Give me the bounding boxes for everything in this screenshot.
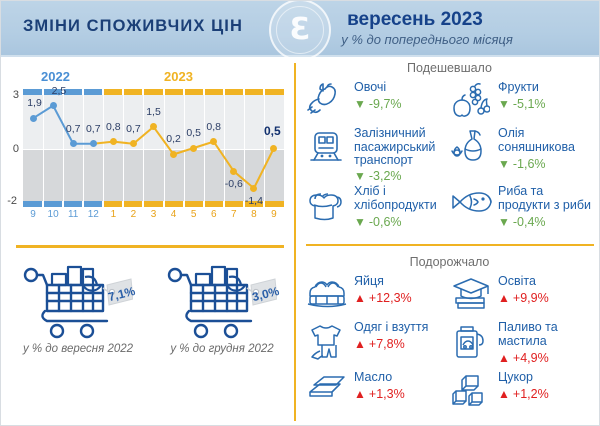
y-tick-3: 3 (1, 89, 19, 101)
price-item-name: Масло (354, 371, 454, 385)
x-axis-label: 5 (185, 209, 203, 220)
chart-data-label: 0,7 (86, 123, 101, 135)
year-bar-notch (142, 89, 144, 95)
left-horizontal-divider (16, 245, 284, 248)
chart-point (30, 115, 37, 122)
year-bar-notch (163, 89, 165, 95)
chart-point (190, 145, 197, 152)
y-tick-neg2: -2 (0, 195, 17, 207)
year-bar-notch (263, 201, 265, 207)
chart-point (90, 140, 97, 147)
year-bar-notch (183, 89, 185, 95)
price-item-name: Овочі (354, 81, 454, 95)
price-item-name: Одяг і взуття (354, 321, 454, 335)
year-bar-notch (42, 201, 44, 207)
arrow-up-icon: ▲ (354, 291, 366, 305)
arrow-down-icon: ▼ (354, 97, 366, 111)
price-change-percent: -5,1% (513, 97, 546, 111)
page-header: ЗМІНИ СПОЖИВЧИХ ЦІН Ԑ вересень 2023 у % … (1, 1, 600, 57)
bread-icon (306, 187, 350, 227)
price-change-percent: -9,7% (369, 97, 402, 111)
clothing-icon (306, 323, 350, 363)
cart-block-vs-december: 3,0% у % до грудня 2022 (149, 251, 295, 371)
arrow-down-icon: ▼ (498, 157, 510, 171)
price-item-name: Цукор (498, 371, 598, 385)
price-change-line-chart: 2022 2023 3 0 -2 9101112123456789 1,92,5… (1, 59, 293, 231)
year-bar-2023 (103, 89, 284, 95)
price-item-value: ▲+4,9% (498, 351, 549, 365)
x-axis-label: 7 (225, 209, 243, 220)
chart-data-label: 0,8 (106, 121, 121, 133)
year-bar-notch (42, 89, 44, 95)
chart-data-label: 0,2 (166, 133, 181, 145)
price-item-value: ▲+7,8% (354, 337, 405, 351)
price-item-name: Освіта (498, 275, 598, 289)
price-item-value: ▲+12,3% (354, 291, 412, 305)
year-bar-notch (122, 201, 124, 207)
chart-point (50, 102, 57, 109)
x-axis-label: 9 (24, 209, 42, 220)
chart-data-label: 1,5 (146, 106, 161, 118)
chart-point (110, 138, 117, 145)
sugar-cubes-icon (450, 373, 494, 413)
x-axis-label: 11 (64, 209, 82, 220)
arrow-up-icon: ▲ (498, 291, 510, 305)
price-item-value: ▲+1,3% (354, 387, 405, 401)
chart-data-label: 2,5 (52, 85, 67, 97)
vegetables-icon (306, 83, 350, 123)
price-item-name: Фрукти (498, 81, 598, 95)
cart-block-vs-september: 7,1% у % до вересня 2022 (5, 251, 151, 371)
price-item-value: ▼-1,6% (498, 157, 546, 171)
year-bar-notch (82, 89, 84, 95)
chart-data-label: 0,5 (264, 124, 281, 138)
chart-data-label: 0,5 (186, 127, 201, 139)
chart-point (70, 140, 77, 147)
x-axis-label: 1 (104, 209, 122, 220)
butter-icon (306, 373, 350, 413)
chart-data-label: 0,7 (66, 123, 81, 135)
arrow-down-icon: ▼ (354, 215, 366, 229)
arrow-down-icon: ▼ (354, 169, 366, 183)
price-item-value: ▲+1,2% (498, 387, 549, 401)
arrow-up-icon: ▲ (354, 387, 366, 401)
report-month: вересень 2023 (265, 9, 565, 31)
chart-data-label: 0,8 (206, 121, 221, 133)
price-item-value: ▼-9,7% (354, 97, 402, 111)
arrow-down-icon: ▼ (498, 97, 510, 111)
x-axis-label: 8 (245, 209, 263, 220)
x-axis-label: 12 (84, 209, 102, 220)
year-bar-notch (223, 89, 225, 95)
price-change-percent: +1,2% (513, 387, 549, 401)
oil-bottle-icon (450, 129, 494, 169)
year-bar-notch (243, 89, 245, 95)
y-tick-0: 0 (1, 143, 19, 155)
year-bar-notch (62, 201, 64, 207)
infographic-page: ЗМІНИ СПОЖИВЧИХ ЦІН Ԑ вересень 2023 у % … (0, 0, 600, 426)
chart-year-label-2022: 2022 (41, 69, 70, 84)
fish-icon (450, 187, 494, 227)
price-item-name: Риба та продукти з риби (498, 185, 598, 212)
x-axis-label: 10 (44, 209, 62, 220)
chart-data-label: -1,4 (245, 195, 263, 207)
x-axis-label: 6 (205, 209, 223, 220)
section-title-pricier: Подорожчало (298, 255, 600, 269)
fruits-icon (450, 83, 494, 123)
x-axis-label: 4 (165, 209, 183, 220)
year-bar-notch (203, 89, 205, 95)
price-item-value: ▼-0,4% (498, 215, 546, 229)
year-bar-notch (122, 89, 124, 95)
price-item-name: Паливо та мастила (498, 321, 598, 348)
year-bar-notch (82, 201, 84, 207)
year-bar-notch (102, 201, 104, 207)
price-change-percent: +4,9% (513, 351, 549, 365)
cumulative-index-carts: 7,1% у % до вересня 2022 (1, 251, 293, 371)
x-axis-label: 9 (265, 209, 283, 220)
arrow-down-icon: ▼ (498, 215, 510, 229)
shopping-cart-icon (21, 265, 133, 343)
x-axis-label: 3 (145, 209, 163, 220)
education-icon (450, 277, 494, 317)
year-bar-notch (142, 201, 144, 207)
eggs-icon (306, 277, 350, 317)
price-change-percent: +7,8% (369, 337, 405, 351)
price-change-percent: +9,9% (513, 291, 549, 305)
cart-caption-vs-december: у % до грудня 2022 (149, 343, 295, 355)
price-item-value: ▲+9,9% (498, 291, 549, 305)
price-change-percent: +1,3% (369, 387, 405, 401)
report-subtitle: у % до попереднього місяця (277, 32, 577, 47)
year-bar-notch (223, 201, 225, 207)
arrow-up-icon: ▲ (498, 387, 510, 401)
cart-caption-vs-september: у % до вересня 2022 (5, 343, 151, 355)
price-item-name: Яйця (354, 275, 454, 289)
section-divider (306, 244, 594, 246)
chart-data-label: 0,7 (126, 123, 141, 135)
year-bar-notch (102, 89, 104, 95)
price-item-value: ▼-5,1% (498, 97, 546, 111)
price-item-value: ▼-3,2% (354, 169, 402, 183)
chart-data-label: 1,9 (27, 97, 42, 109)
section-title-cheaper: Подешевшало (298, 61, 600, 75)
arrow-up-icon: ▲ (498, 351, 510, 365)
price-change-percent: -0,4% (513, 215, 546, 229)
price-change-percent: -0,6% (369, 215, 402, 229)
price-change-percent: +12,3% (369, 291, 412, 305)
chart-data-label: -0,6 (225, 178, 243, 190)
price-change-items-panel: Подешевшало Овочі▼-9,7%Фрукти▼-5,1%Заліз… (298, 59, 600, 425)
price-change-percent: -3,2% (369, 169, 402, 183)
shopping-cart-icon (165, 265, 277, 343)
arrow-up-icon: ▲ (354, 337, 366, 351)
year-bar-notch (203, 201, 205, 207)
year-bar-notch (163, 201, 165, 207)
page-title: ЗМІНИ СПОЖИВЧИХ ЦІН (23, 17, 243, 36)
chart-point (270, 145, 277, 152)
price-item-value: ▼-0,6% (354, 215, 402, 229)
year-bar-notch (183, 201, 185, 207)
x-axis-label: 2 (124, 209, 142, 220)
chart-year-label-2023: 2023 (164, 69, 193, 84)
price-item-name: Олія соняшникова (498, 127, 598, 154)
fuel-canister-icon (450, 323, 494, 363)
price-change-percent: -1,6% (513, 157, 546, 171)
price-item-name: Хліб і хлібопродукти (354, 185, 454, 212)
price-item-name: Залізничний пасажирський транспорт (354, 127, 454, 168)
train-icon (306, 129, 350, 169)
year-bar-notch (263, 89, 265, 95)
chart-point (170, 151, 177, 158)
